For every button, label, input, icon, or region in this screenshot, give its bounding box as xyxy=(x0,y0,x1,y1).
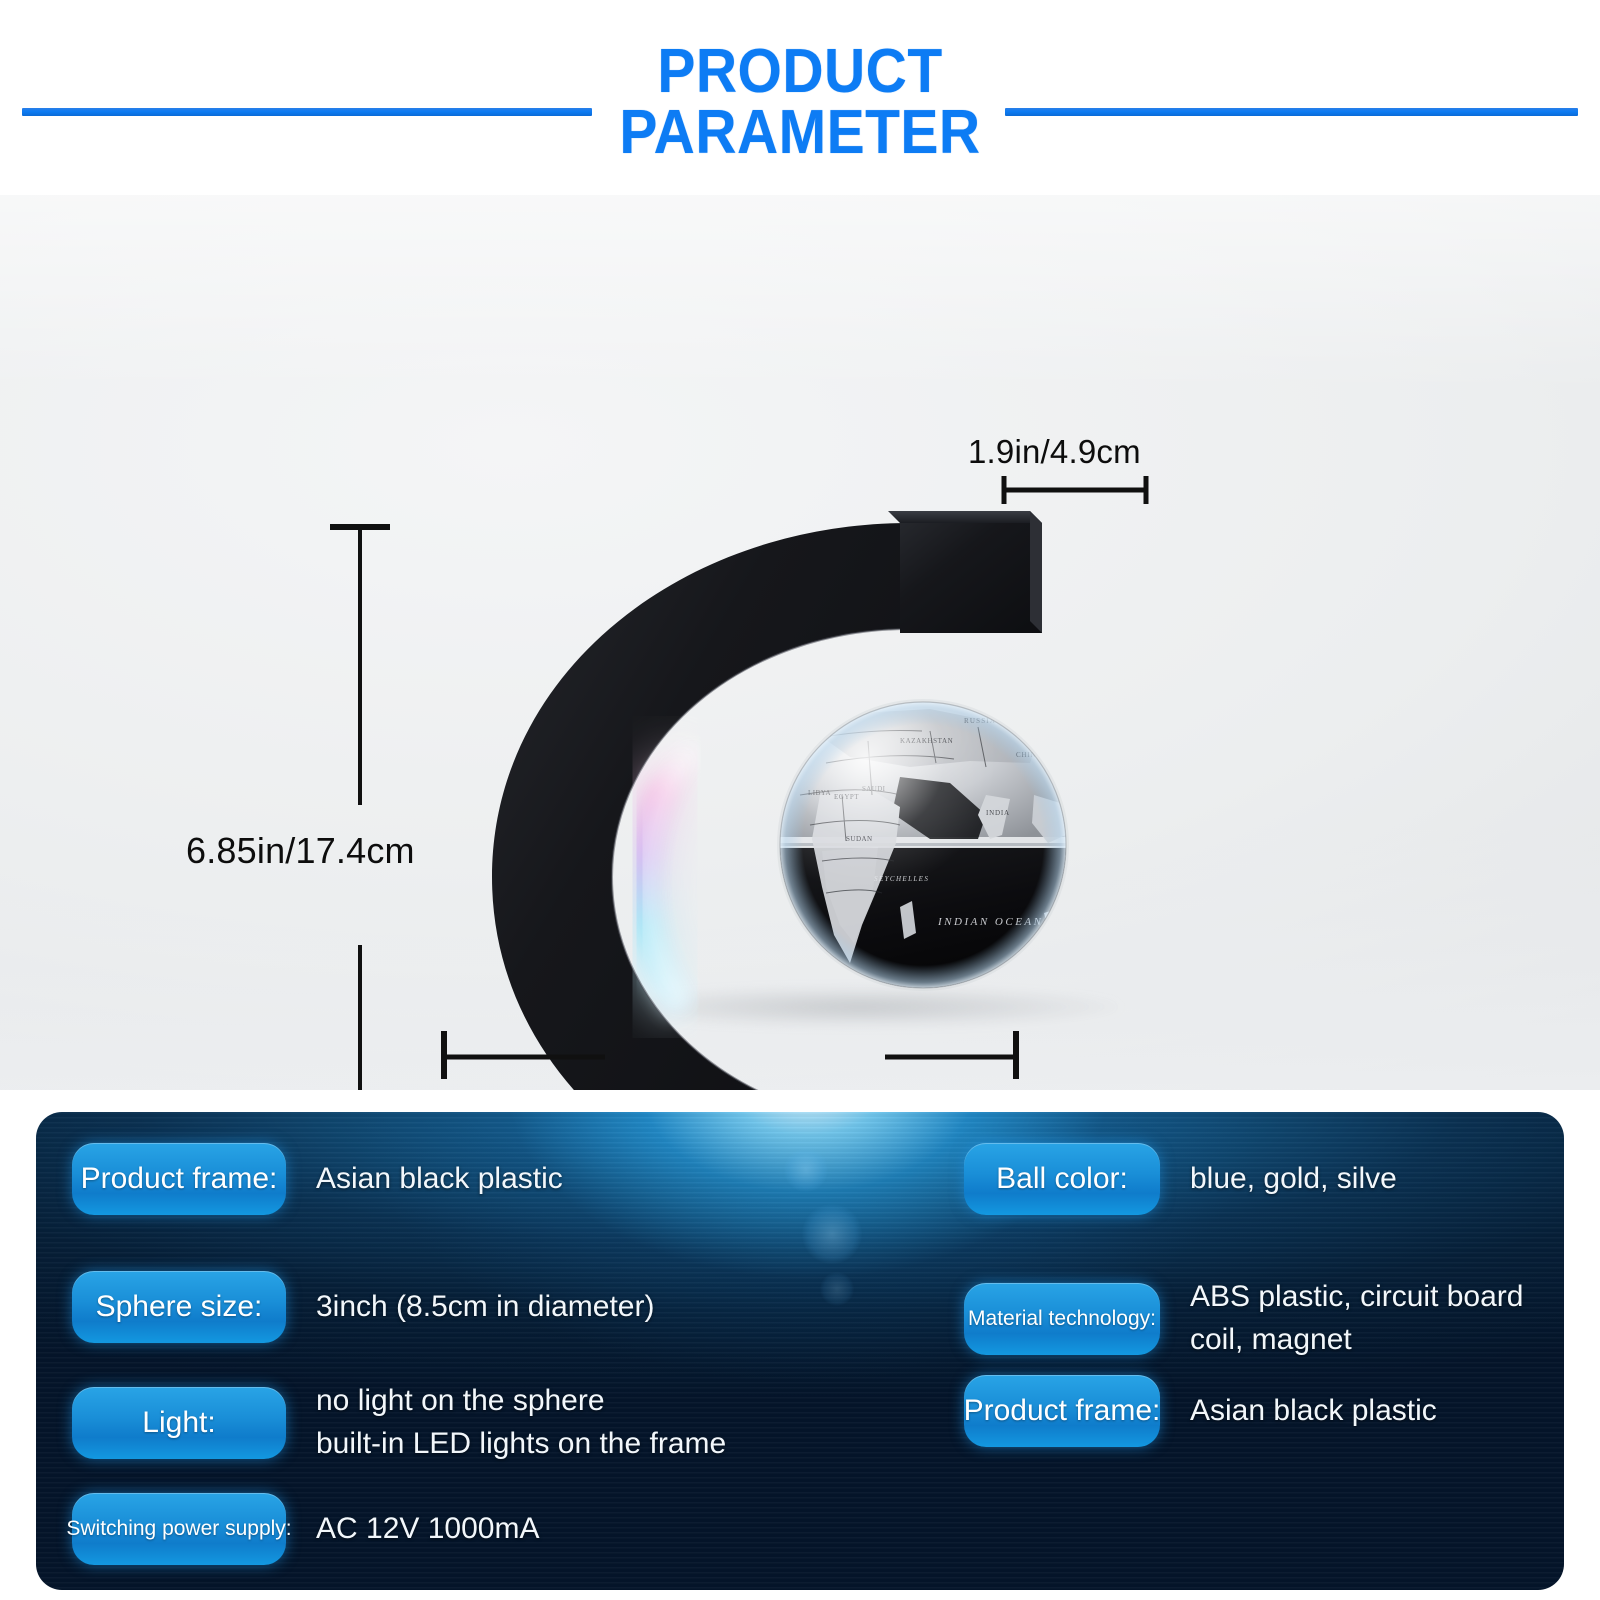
spec-label-text: Product frame: xyxy=(81,1162,278,1196)
product-parameter-infographic: PRODUCT PARAMETER xyxy=(0,0,1600,1600)
spec-row: Product frame: Asian black plastic xyxy=(964,1374,1564,1448)
spec-label-text: Product frame: xyxy=(964,1394,1161,1428)
page-title-line-1: PRODUCT xyxy=(64,42,1536,103)
globe: RUSSIA KAZAKHSTAN CHINA INDIA EGYPT SAUD… xyxy=(777,695,1078,997)
spec-value-material-technology: ABS plastic, circuit board coil, magnet xyxy=(1190,1276,1523,1361)
specification-panel: Product frame: Asian black plastic Spher… xyxy=(36,1112,1564,1590)
c-frame-top-arm xyxy=(888,511,1042,633)
spec-label-switching-power-supply: Switching power supply: xyxy=(72,1493,286,1565)
dimension-left-height-label: 6.85in/17.4cm xyxy=(186,830,415,872)
dimension-top-width xyxy=(960,470,1200,510)
spec-label-ball-color: Ball color: xyxy=(964,1143,1160,1215)
spec-label-text: Light: xyxy=(142,1406,215,1440)
spec-label-material-technology: Material technology: xyxy=(964,1283,1160,1355)
spec-value-product-frame: Asian black plastic xyxy=(316,1158,563,1201)
spec-label-sphere-size: Sphere size: xyxy=(72,1271,286,1343)
page-header: PRODUCT PARAMETER xyxy=(0,0,1600,195)
spec-value-sphere-size: 3inch (8.5cm in diameter) xyxy=(316,1286,654,1329)
spec-label-product-frame-2: Product frame: xyxy=(964,1375,1160,1447)
spec-row: Material technology: ABS plastic, circui… xyxy=(964,1264,1564,1374)
spec-label-product-frame: Product frame: xyxy=(72,1143,286,1215)
levitating-globe-assembly: RUSSIA KAZAKHSTAN CHINA INDIA EGYPT SAUD… xyxy=(430,495,1150,1090)
spec-label-text: Material technology: xyxy=(968,1307,1156,1331)
dimension-bottom-width xyxy=(430,1025,1030,1085)
product-photo: RUSSIA KAZAKHSTAN CHINA INDIA EGYPT SAUD… xyxy=(0,195,1600,1090)
page-title: PRODUCT PARAMETER xyxy=(0,42,1600,164)
spec-value-switching-power-supply: AC 12V 1000mA xyxy=(316,1508,539,1551)
spec-row: Switching power supply: AC 12V 1000mA xyxy=(72,1492,932,1566)
spec-label-text: Sphere size: xyxy=(96,1290,263,1324)
spec-label-light: Light: xyxy=(72,1387,286,1459)
spec-row: Sphere size: 3inch (8.5cm in diameter) xyxy=(72,1270,932,1344)
spec-row: Light: no light on the sphere built-in L… xyxy=(72,1368,932,1478)
dimension-top-width-label: 1.9in/4.9cm xyxy=(968,433,1141,471)
spec-value-product-frame-2: Asian black plastic xyxy=(1190,1390,1437,1433)
spec-value-light: no light on the sphere built-in LED ligh… xyxy=(316,1380,726,1465)
spec-row: Product frame: Asian black plastic xyxy=(72,1142,932,1216)
page-title-line-2: PARAMETER xyxy=(64,103,1536,164)
spec-label-text: Ball color: xyxy=(996,1162,1128,1196)
spec-label-text: Switching power supply: xyxy=(66,1517,291,1541)
spec-row: Ball color: blue, gold, silve xyxy=(964,1142,1564,1216)
dimension-left-height xyxy=(320,515,400,1090)
specification-grid: Product frame: Asian black plastic Spher… xyxy=(36,1112,1564,1590)
spec-value-ball-color: blue, gold, silve xyxy=(1190,1158,1397,1201)
